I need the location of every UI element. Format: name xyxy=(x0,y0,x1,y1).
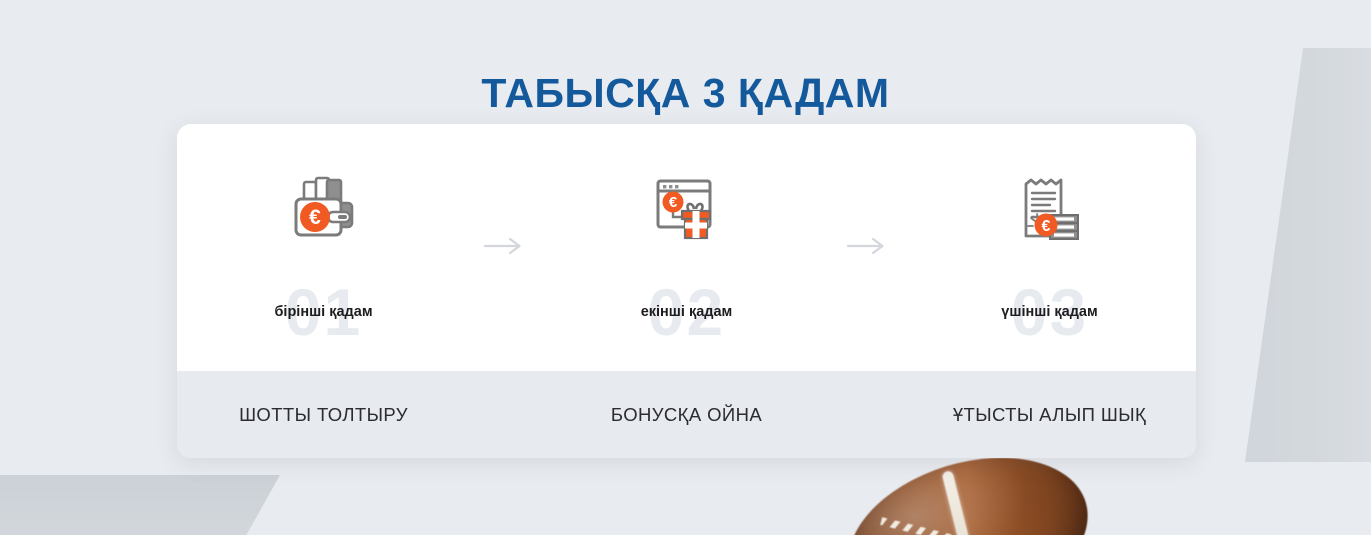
steps-icon-row: € 01 бірінші қадам xyxy=(177,124,1196,371)
step-1-action: ШОТТЫ ТОЛТЫРУ xyxy=(177,404,470,426)
page-title: ТАБЫСҚА 3 ҚАДАМ xyxy=(0,70,1371,117)
connector-2 xyxy=(833,236,903,256)
step-1-action-label: ШОТТЫ ТОЛТЫРУ xyxy=(239,404,408,425)
step-3-label: үшінші қадам xyxy=(1001,304,1097,320)
step-3-action-label: ҰТЫСТЫ АЛЫП ШЫҚ xyxy=(953,404,1146,425)
step-2: € 02 екінші қадам xyxy=(540,160,833,342)
step-1: € 01 бірінші қадам xyxy=(177,160,470,342)
step-3: € 03 үшінші қадам xyxy=(903,160,1196,342)
step-2-caption: 02 екінші қадам xyxy=(540,282,833,342)
step-1-caption: 01 бірінші қадам xyxy=(177,282,470,342)
football-seam xyxy=(941,470,986,535)
step-2-label: екінші қадам xyxy=(641,304,733,320)
football-lace xyxy=(881,517,964,535)
step-2-action-label: БОНУСҚА ОЙНА xyxy=(611,404,762,425)
receipt-with-euro-coin-and-cash-stack-icon: € xyxy=(1012,168,1088,254)
connector-1 xyxy=(470,236,540,256)
arrow-right-icon xyxy=(484,236,526,256)
steps-card: € 01 бірінші қадам xyxy=(177,124,1196,458)
step-3-caption: 03 үшінші қадам xyxy=(903,282,1196,342)
steps-action-row: ШОТТЫ ТОЛТЫРУ БОНУСҚА ОЙНА ҰТЫСТЫ АЛЫП Ш… xyxy=(177,371,1196,458)
browser-window-with-gift-box-and-euro-coin-icon: € xyxy=(649,168,725,254)
svg-text:€: € xyxy=(309,206,321,229)
step-1-label: бірінші қадам xyxy=(274,304,372,320)
svg-text:€: € xyxy=(1041,218,1050,235)
wallet-with-cash-and-euro-coin-icon: € xyxy=(286,168,362,254)
svg-text:€: € xyxy=(668,194,677,211)
step-2-action: БОНУСҚА ОЙНА xyxy=(540,404,833,426)
arrow-right-icon xyxy=(847,236,889,256)
step-3-action: ҰТЫСТЫ АЛЫП ШЫҚ xyxy=(903,404,1196,426)
bottom-left-diagonal-band xyxy=(0,475,280,535)
